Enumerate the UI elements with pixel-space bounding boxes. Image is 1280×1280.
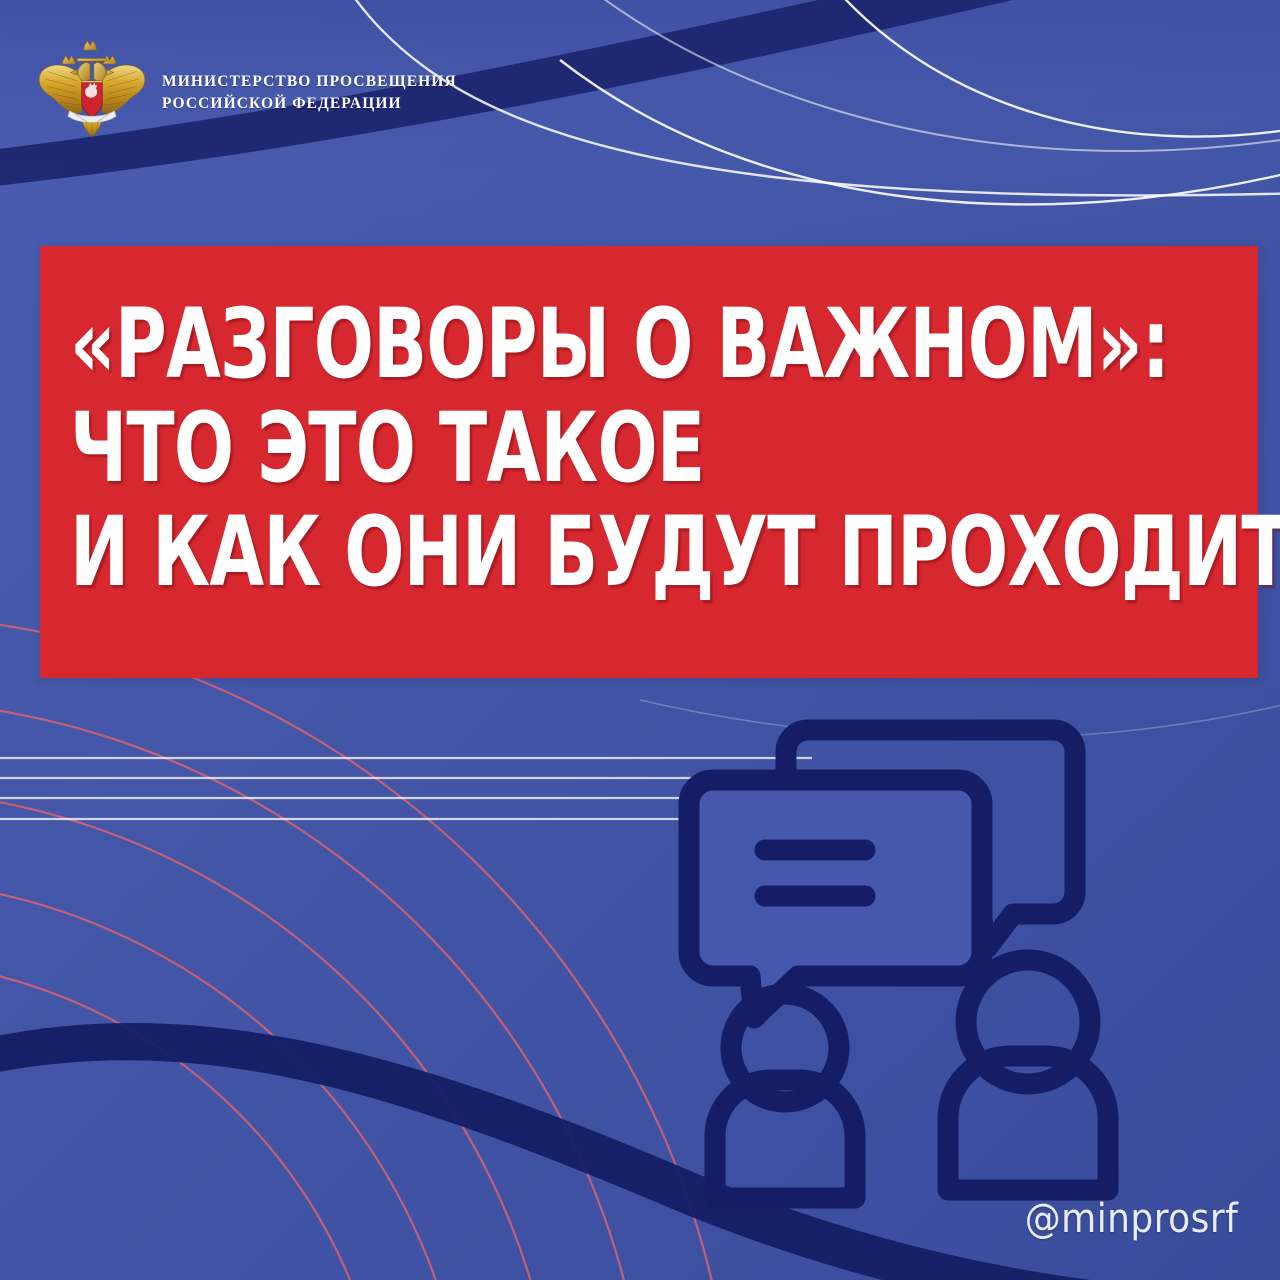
- ministry-header: МИНИСТЕРСТВО ПРОСВЕЩЕНИЯ РОССИЙСКОЙ ФЕДЕ…: [36, 38, 457, 146]
- headline-line-3: И КАК ОНИ БУДУТ ПРОХОДИТЬ?: [70, 500, 1038, 604]
- poster-canvas: МИНИСТЕРСТВО ПРОСВЕЩЕНИЯ РОССИЙСКОЙ ФЕДЕ…: [0, 0, 1280, 1280]
- ministry-line-1: МИНИСТЕРСТВО ПРОСВЕЩЕНИЯ: [162, 74, 457, 90]
- ministry-line-2: РОССИЙСКОЙ ФЕДЕРАЦИИ: [162, 96, 457, 112]
- headline-text-block: «РАЗГОВОРЫ О ВАЖНОМ»: ЧТО ЭТО ТАКОЕ И КА…: [70, 292, 1250, 604]
- social-handle: @minprosrf: [1024, 1196, 1238, 1242]
- headline-line-1: «РАЗГОВОРЫ О ВАЖНОМ»:: [70, 292, 1038, 396]
- headline-line-2: ЧТО ЭТО ТАКОЕ: [70, 396, 1038, 500]
- headline-banner: «РАЗГОВОРЫ О ВАЖНОМ»: ЧТО ЭТО ТАКОЕ И КА…: [40, 246, 1258, 678]
- emblem-crowns: [62, 41, 116, 64]
- russian-double-headed-eagle-emblem: [36, 38, 148, 146]
- ministry-title-block: МИНИСТЕРСТВО ПРОСВЕЩЕНИЯ РОССИЙСКОЙ ФЕДЕ…: [162, 72, 457, 112]
- person-right-icon: [948, 960, 1108, 1190]
- conversation-illustration: [690, 700, 1160, 1220]
- person-left-icon: [715, 994, 855, 1198]
